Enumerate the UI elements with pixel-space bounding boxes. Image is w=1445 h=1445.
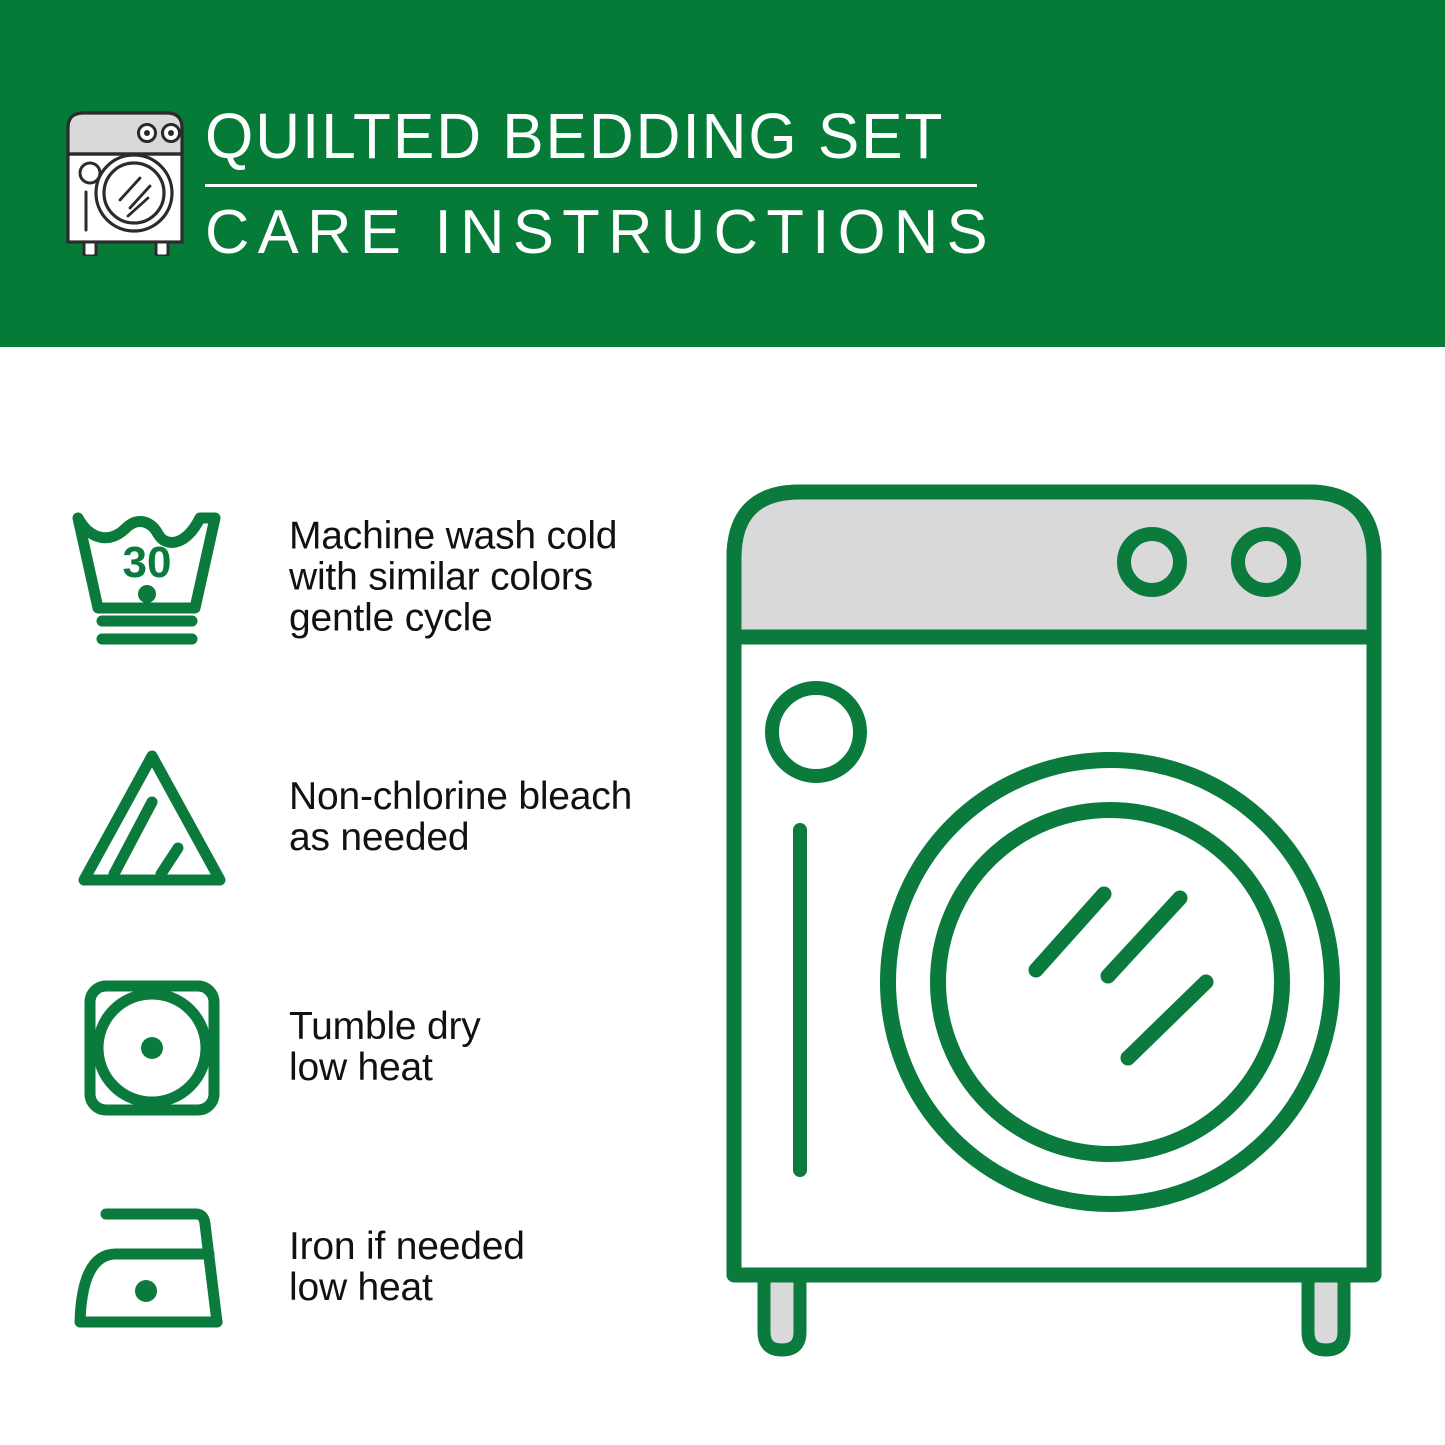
header-divider [205,184,977,187]
washer-leg-right [1308,1275,1344,1350]
non-chlorine-bleach-triangle-icon [68,742,236,892]
care-item-tumble-dry: Tumble dry low heat [0,967,700,1127]
care-item-label: Tumble dry low heat [289,1006,481,1088]
header-banner: QUILTED BEDDING SET CARE INSTRUCTIONS [0,0,1445,347]
washer-leg-left [764,1275,800,1350]
wash-temperature-value: 30 [123,538,172,587]
page-title: QUILTED BEDDING SET [205,100,971,172]
front-load-washing-machine-illustration [718,470,1390,1370]
care-item-label: Iron if needed low heat [289,1226,525,1308]
wash-tub-30-icon: 30 [68,502,236,652]
tumble-dry-low-icon [68,972,236,1122]
care-item-label: Machine wash cold with similar colors ge… [289,516,617,639]
care-instructions-list: 30 Machine wash cold with similar colors… [0,347,700,1445]
care-item-label: Non-chlorine bleach as needed [289,776,632,858]
header-text-block: QUILTED BEDDING SET CARE INSTRUCTIONS [205,100,995,267]
care-item-bleach: Non-chlorine bleach as needed [0,737,700,897]
washing-machine-logo-icon [60,104,190,256]
iron-low-heat-icon [68,1192,236,1342]
care-item-machine-wash: 30 Machine wash cold with similar colors… [0,497,700,657]
page-subtitle: CARE INSTRUCTIONS [205,199,987,267]
washer-control-panel [734,492,1374,637]
care-instructions-page: QUILTED BEDDING SET CARE INSTRUCTIONS [0,0,1445,1445]
care-item-iron: Iron if needed low heat [0,1187,700,1347]
